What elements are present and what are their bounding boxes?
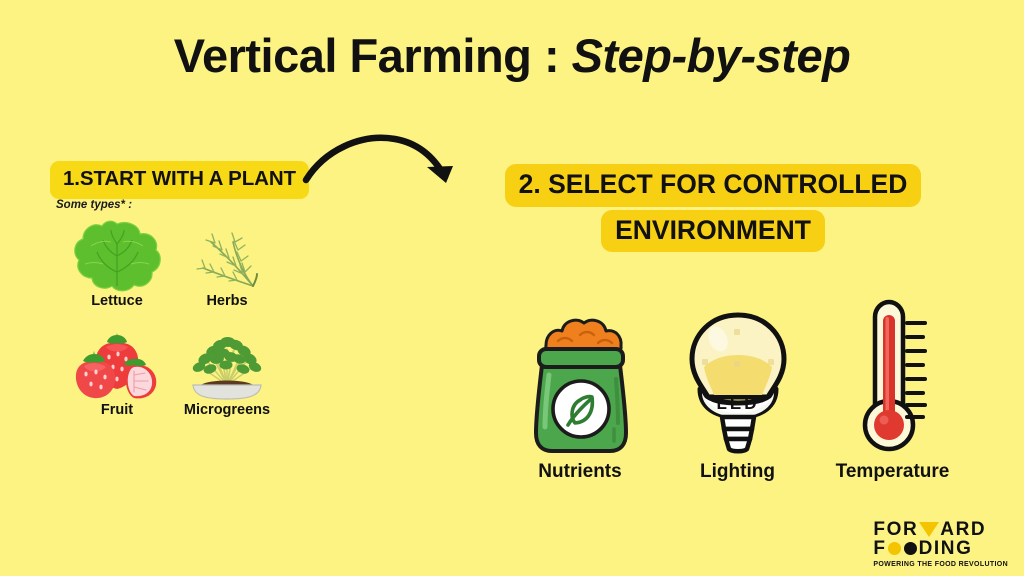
plant-label: Microgreens <box>172 403 282 418</box>
some-types-note: Some types* : <box>56 199 132 211</box>
plant-item-fruit: Fruit <box>62 323 172 418</box>
page-title: Vertical Farming : Step-by-step <box>0 28 1024 83</box>
herbs-icon <box>172 214 282 292</box>
step2-heading-line2: ENVIRONMENT <box>601 210 825 253</box>
plant-label: Lettuce <box>62 294 172 309</box>
environment-items: Nutrients <box>495 292 975 481</box>
title-plain: Vertical Farming : <box>174 29 572 82</box>
lettuce-icon <box>62 214 172 292</box>
infographic-slide: Vertical Farming : Step-by-step 1.START … <box>0 0 1024 576</box>
env-item-temperature: Temperature <box>810 292 975 481</box>
logo-triangle-w-icon <box>919 522 939 537</box>
plant-row: Lettuce <box>62 214 312 309</box>
logo-text-ding: DING <box>919 539 973 558</box>
step2-heading-line1: 2. SELECT FOR CONTROLLED <box>505 164 922 207</box>
step1-badge: 1.START WITH A PLANT <box>50 161 309 199</box>
led-bulb-icon: LED <box>665 292 810 457</box>
logo-dot-yellow-icon <box>888 542 901 555</box>
plant-row: Fruit <box>62 323 312 418</box>
fertilizer-bag-icon <box>495 292 665 457</box>
plant-label: Fruit <box>62 403 172 418</box>
logo-text-for: FOR <box>873 520 918 539</box>
plant-item-microgreens: Microgreens <box>172 323 282 418</box>
logo-dot-black-icon <box>904 542 917 555</box>
thermometer-icon <box>810 292 975 457</box>
env-item-nutrients: Nutrients <box>495 292 665 481</box>
title-emphasis: Step-by-step <box>572 29 851 82</box>
logo-text-f: F <box>873 539 886 558</box>
env-label: Temperature <box>810 462 975 481</box>
curved-arrow-icon <box>300 125 465 200</box>
plant-item-herbs: Herbs <box>172 214 282 309</box>
plant-label: Herbs <box>172 294 282 309</box>
logo-text-ard: ARD <box>940 520 986 539</box>
plant-type-grid: Lettuce <box>62 214 312 417</box>
logo-tagline: POWERING THE FOOD REVOLUTION <box>873 561 1008 568</box>
microgreens-icon <box>172 323 282 401</box>
svg-text:LED: LED <box>716 394 759 413</box>
step2-heading: 2. SELECT FOR CONTROLLED ENVIRONMENT <box>463 164 963 255</box>
logo-line-forward: FOR ARD <box>873 520 1008 539</box>
env-label: Lighting <box>665 462 810 481</box>
plant-item-lettuce: Lettuce <box>62 214 172 309</box>
env-item-lighting: LED Lighting <box>665 292 810 481</box>
strawberry-icon <box>62 323 172 401</box>
logo-line-fooding: F DING <box>873 539 1008 558</box>
env-label: Nutrients <box>495 462 665 481</box>
forward-fooding-logo: FOR ARD F DING POWERING THE FOOD REVOLUT… <box>873 520 1008 568</box>
